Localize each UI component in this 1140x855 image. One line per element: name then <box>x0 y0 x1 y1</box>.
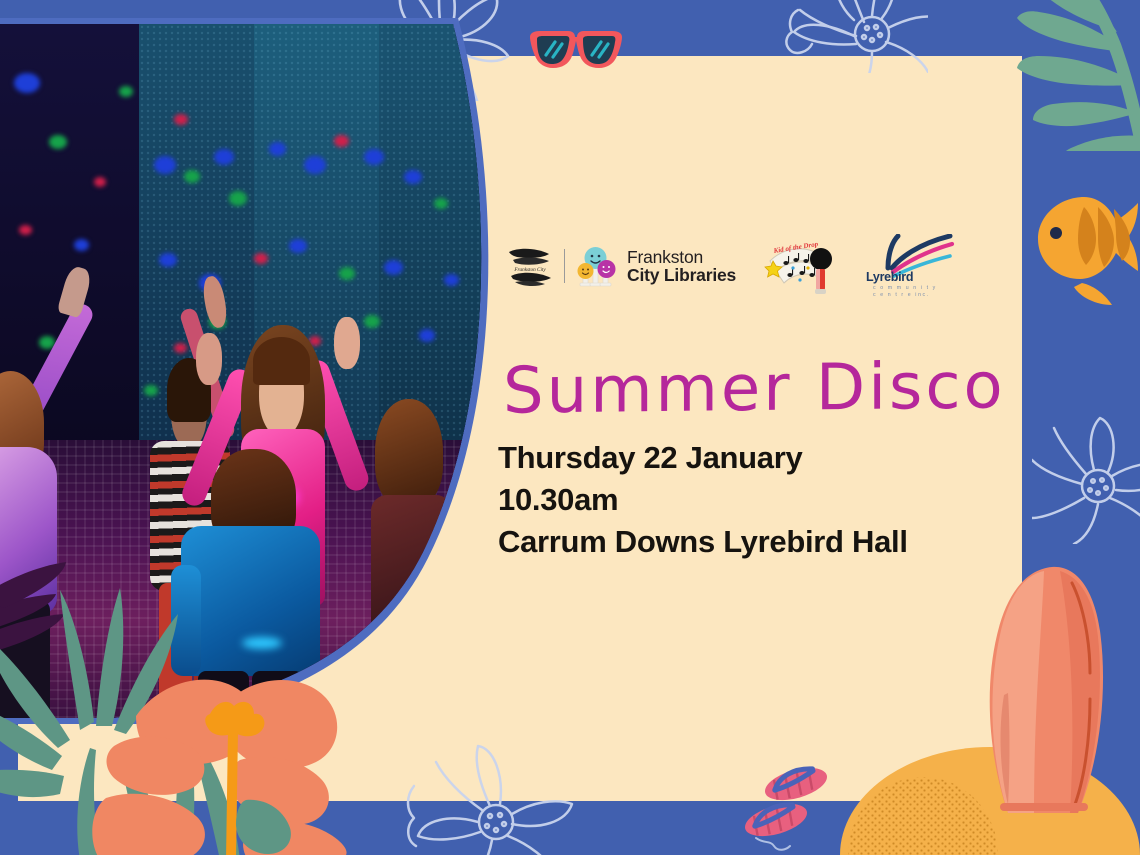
event-time: 10.30am <box>498 479 908 521</box>
lyrebird-community-centre-logo: Lyrebird c o m m u n i t y c e n t r e i… <box>866 234 956 298</box>
sunglasses-icon <box>528 28 624 74</box>
page-title: Summer Disco <box>503 349 1006 428</box>
hibiscus-foliage-icon <box>0 430 390 855</box>
logo-divider <box>564 249 565 283</box>
frankston-logo-text: Frankston City Libraries <box>627 248 736 284</box>
beach-scene <box>830 560 1140 855</box>
frankston-city-crest-icon: Frankston City <box>505 244 555 288</box>
event-details: Thursday 22 January 10.30am Carrum Downs… <box>498 437 908 563</box>
frankston-logo-line1: Frankston <box>627 248 736 266</box>
partner-logos: Frankston City <box>505 232 975 300</box>
line-flower-icon <box>1032 414 1140 544</box>
surfboard-icon <box>950 565 1120 815</box>
lyrebird-logo-tagline-1: c o m m u n i t y <box>873 285 937 291</box>
svg-text:Frankston City: Frankston City <box>513 267 546 273</box>
palm-frond-icon <box>985 0 1140 151</box>
poster-canvas: Frankston City <box>0 0 1140 855</box>
library-figures-icon <box>574 244 618 288</box>
tropical-fish-icon <box>1032 183 1140 311</box>
flip-flops-icon <box>740 762 840 855</box>
kid-of-the-drop-logo: Kid of the Drop <box>762 235 840 297</box>
lyrebird-logo-tagline-2: c e n t r e inc. <box>873 292 930 298</box>
frankston-city-libraries-logo: Frankston City <box>505 244 736 288</box>
event-date: Thursday 22 January <box>498 437 908 479</box>
event-venue: Carrum Downs Lyrebird Hall <box>498 521 908 563</box>
frankston-logo-line2: City Libraries <box>627 266 736 284</box>
lyrebird-logo-title: Lyrebird <box>866 270 913 284</box>
